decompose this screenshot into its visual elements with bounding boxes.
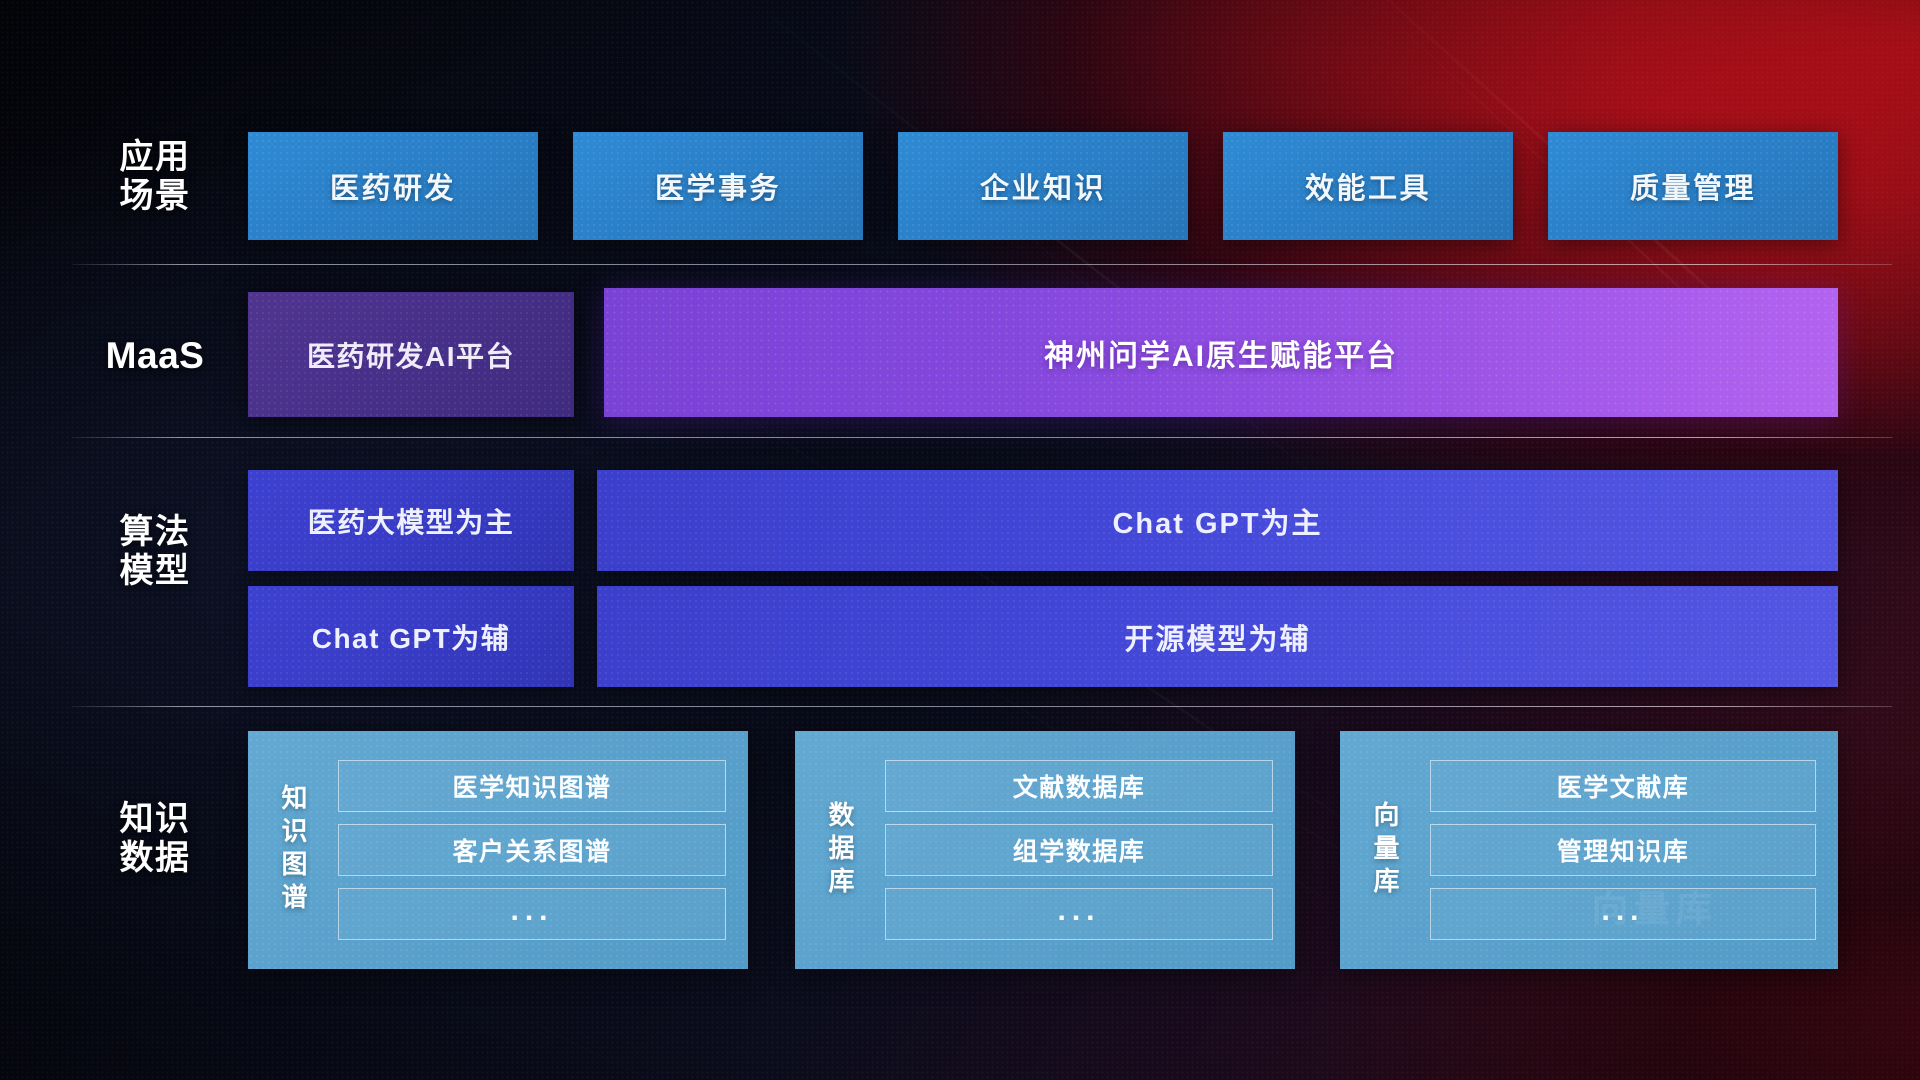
scene-box-label: 企业知识 — [980, 165, 1106, 207]
knowledge-item-list: 医学文献库 管理知识库 ... — [1430, 731, 1838, 969]
algo-box-label: Chat GPT为主 — [1112, 500, 1322, 542]
knowledge-panel-vertical-label: 数据库 — [795, 731, 885, 969]
algo-box-label: 医药大模型为主 — [308, 501, 515, 541]
scene-box-label: 效能工具 — [1305, 165, 1431, 207]
scene-box-label: 质量管理 — [1630, 165, 1756, 207]
knowledge-item-more[interactable]: ... — [338, 888, 726, 940]
knowledge-panel-vertical-label: 知识图谱 — [248, 731, 338, 969]
knowledge-item-more[interactable]: ... — [1430, 888, 1816, 940]
algo-box-label: 开源模型为辅 — [1124, 616, 1310, 658]
knowledge-item[interactable]: 组学数据库 — [885, 824, 1273, 876]
maas-box-label: 神州问学AI原生赋能平台 — [1044, 331, 1398, 375]
maas-box-drug-rd-ai-platform[interactable]: 医药研发AI平台 — [248, 292, 574, 417]
knowledge-item[interactable]: 医学知识图谱 — [338, 760, 726, 812]
knowledge-item-more[interactable]: ... — [885, 888, 1273, 940]
tier-divider — [72, 264, 1892, 265]
maas-box-label: 医药研发AI平台 — [307, 335, 515, 375]
knowledge-panel-knowledge-graph: 知识图谱 医学知识图谱 客户关系图谱 ... — [248, 731, 748, 969]
knowledge-panel-database: 数据库 文献数据库 组学数据库 ... — [795, 731, 1295, 969]
tier-divider — [72, 437, 1892, 438]
scene-box-label: 医学事务 — [655, 165, 781, 207]
algo-box-chatgpt-secondary[interactable]: Chat GPT为辅 — [248, 586, 574, 687]
knowledge-item[interactable]: 文献数据库 — [885, 760, 1273, 812]
algo-box-label: Chat GPT为辅 — [312, 617, 511, 657]
knowledge-panel-vector-store: 向量库 医学文献库 管理知识库 ... — [1340, 731, 1838, 969]
scene-box-quality-management[interactable]: 质量管理 — [1548, 132, 1838, 240]
knowledge-item-list: 医学知识图谱 客户关系图谱 ... — [338, 731, 748, 969]
scene-box-enterprise-knowledge[interactable]: 企业知识 — [898, 132, 1188, 240]
scene-box-label: 医药研发 — [330, 165, 456, 207]
tier-label-algorithm-model: 算法 模型 — [70, 513, 240, 592]
knowledge-item[interactable]: 客户关系图谱 — [338, 824, 726, 876]
tier-label-application-scenario: 应用 场景 — [70, 138, 240, 217]
scene-box-medical-affairs[interactable]: 医学事务 — [573, 132, 863, 240]
tier-divider — [72, 706, 1892, 707]
knowledge-item-list: 文献数据库 组学数据库 ... — [885, 731, 1295, 969]
tier-label-knowledge-data: 知识 数据 — [70, 800, 240, 879]
tier-label-maas: MaaS — [70, 335, 240, 378]
knowledge-panel-vertical-label: 向量库 — [1340, 731, 1430, 969]
algo-box-chatgpt-primary[interactable]: Chat GPT为主 — [597, 470, 1838, 571]
algo-box-drug-large-model-primary[interactable]: 医药大模型为主 — [248, 470, 574, 571]
knowledge-item[interactable]: 管理知识库 — [1430, 824, 1816, 876]
algo-box-opensource-model-secondary[interactable]: 开源模型为辅 — [597, 586, 1838, 687]
maas-box-shenzhou-wenxue-platform[interactable]: 神州问学AI原生赋能平台 — [604, 288, 1838, 417]
scene-box-efficiency-tools[interactable]: 效能工具 — [1223, 132, 1513, 240]
scene-box-drug-rd[interactable]: 医药研发 — [248, 132, 538, 240]
architecture-diagram: 应用 场景 医药研发 医学事务 企业知识 效能工具 质量管理 MaaS 医药研发… — [0, 0, 1920, 1080]
knowledge-item[interactable]: 医学文献库 — [1430, 760, 1816, 812]
